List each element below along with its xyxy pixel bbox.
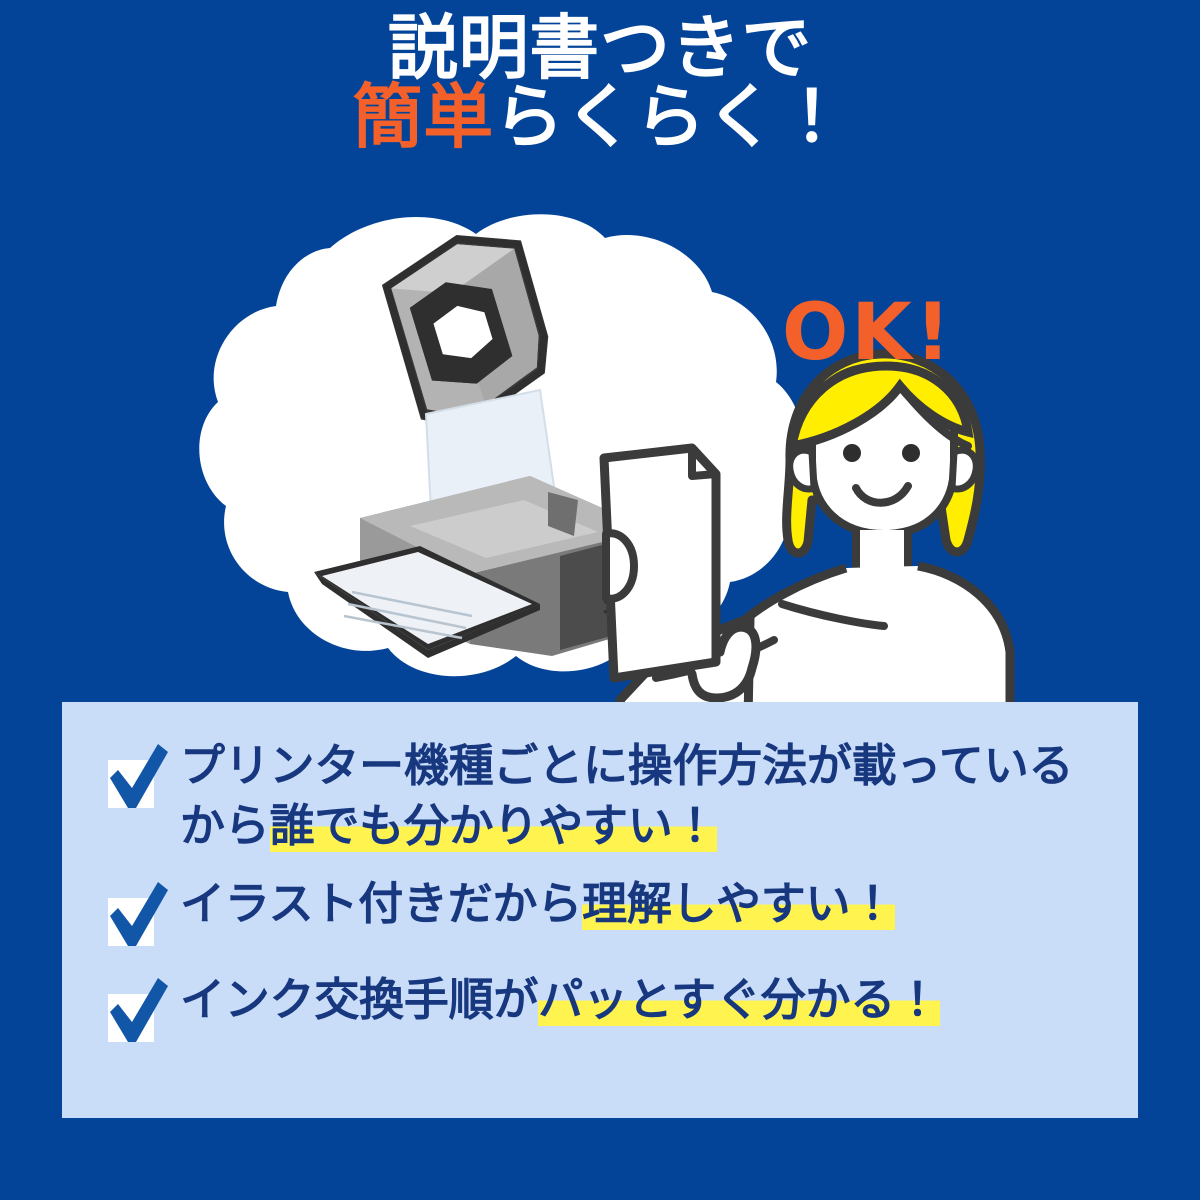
list-item-highlight: 理解しやすい！ <box>582 877 895 930</box>
check-icon <box>96 974 174 1048</box>
list-item-text: イラスト付きだから理解しやすい！ <box>180 874 895 934</box>
headline-line-2: 簡単らくらく！ <box>0 83 1200 152</box>
list-item-plain: インク交換手順が <box>180 973 538 1026</box>
list-item: イラスト付きだから理解しやすい！ <box>96 874 1110 952</box>
eye-right <box>902 444 920 462</box>
promo-poster: 説明書つきで 簡単らくらく！ OK! <box>0 0 1200 1200</box>
page-title: 説明書つきで 簡単らくらく！ <box>0 14 1200 151</box>
ok-label: OK! <box>782 288 954 378</box>
check-icon <box>96 740 174 814</box>
list-item-text: プリンター機種ごとに操作方法が載っているから誰でも分かりやすい！ <box>180 736 1110 856</box>
illustration-area <box>0 200 1200 720</box>
list-item-text: インク交換手順がパッとすぐ分かる！ <box>180 970 940 1030</box>
list-item: プリンター機種ごとに操作方法が載っているから誰でも分かりやすい！ <box>96 736 1110 856</box>
headline-accent-word: 簡単 <box>353 76 494 158</box>
list-item: インク交換手順がパッとすぐ分かる！ <box>96 970 1110 1048</box>
list-item-plain: イラスト付きだから <box>180 877 582 930</box>
headline-rest-word: らくらく！ <box>494 76 848 158</box>
list-item-highlight: 誰でも分かりやすい！ <box>270 799 718 852</box>
headline-line-1: 説明書つきで <box>0 14 1200 83</box>
feature-list-panel: プリンター機種ごとに操作方法が載っているから誰でも分かりやすい！ イラスト付きだ… <box>62 702 1138 1118</box>
eye-left <box>843 444 861 462</box>
check-icon <box>96 878 174 952</box>
list-item-highlight: パッとすぐ分かる！ <box>538 973 940 1026</box>
